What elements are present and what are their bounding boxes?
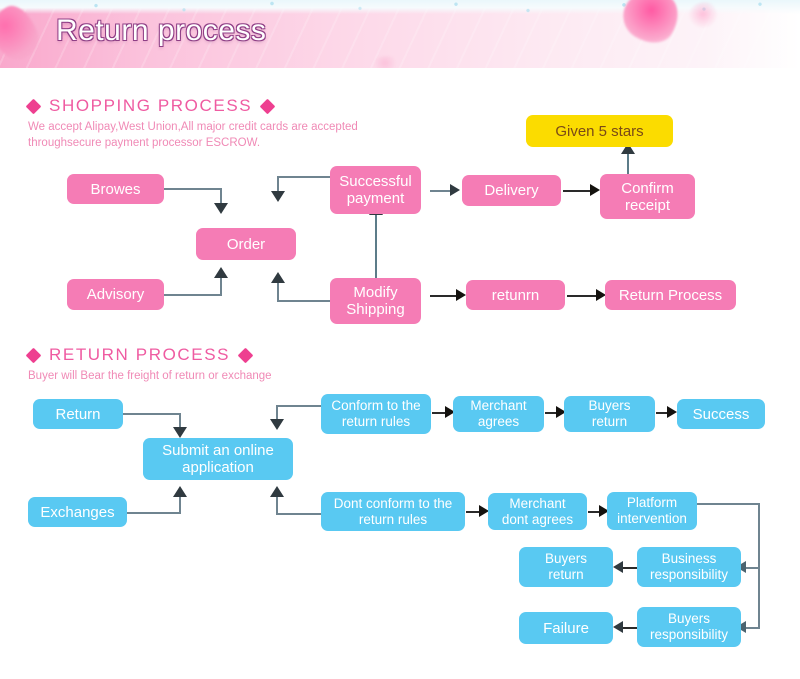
connector-conform-left-h: [276, 405, 324, 407]
connector-bus-to-buyers-h: [746, 627, 760, 629]
connector-exchanges-v: [179, 496, 181, 513]
arrow-browes-to-order: [214, 203, 228, 214]
return-process-heading: RETURN PROCESS: [28, 345, 251, 365]
arrow-buyersresp-to-failure: [613, 621, 623, 633]
connector-platform-bus-v: [758, 503, 760, 627]
arrow-buyersreturn-to-success: [667, 406, 677, 418]
connector-buyersresp-to-failure: [623, 627, 637, 629]
connector-platform-bus-h: [697, 503, 760, 505]
connector-retunrn-to-returnprocess: [567, 295, 599, 297]
node-advisory[interactable]: Advisory: [67, 279, 164, 310]
node-return[interactable]: Return: [33, 399, 123, 429]
diamond-icon-left: [26, 98, 42, 114]
node-conform-to-return-rules[interactable]: Conform to the return rules: [321, 394, 431, 434]
page-header-banner: Return process: [0, 0, 800, 68]
connector-confirm-to-stars: [627, 152, 629, 174]
node-merchant-agrees[interactable]: Merchant agrees: [453, 396, 544, 432]
connector-advisory-h: [164, 294, 222, 296]
node-buyers-return-top[interactable]: Buyers return: [564, 396, 655, 432]
node-modify-shipping[interactable]: Modify Shipping: [330, 278, 421, 324]
arrow-dontconform-up: [270, 486, 284, 497]
arrow-modify-up: [271, 272, 285, 283]
node-return-process[interactable]: Return Process: [605, 280, 736, 310]
connector-business-to-buyersreturn: [623, 567, 637, 569]
node-platform-intervention[interactable]: Platform intervention: [607, 492, 697, 530]
arrow-exchanges-up: [173, 486, 187, 497]
connector-bus-to-business-h: [746, 567, 760, 569]
petal-decoration-bottom: [372, 56, 398, 68]
node-browes[interactable]: Browes: [67, 174, 164, 204]
node-retunrn[interactable]: retunrn: [466, 280, 565, 310]
node-buyers-responsibility[interactable]: Buyers responsibility: [637, 607, 741, 647]
node-failure[interactable]: Failure: [519, 612, 613, 644]
diamond-icon-left-2: [26, 347, 42, 363]
arrow-conform-down: [270, 419, 284, 430]
arrow-return-to-submit: [173, 427, 187, 438]
node-delivery[interactable]: Delivery: [462, 175, 561, 206]
connector-modify-to-payment: [375, 214, 377, 278]
shopping-process-subtitle: We accept Alipay,West Union,All major cr…: [28, 119, 358, 151]
node-exchanges[interactable]: Exchanges: [28, 497, 127, 527]
node-submit-online-application[interactable]: Submit an online application: [143, 438, 293, 480]
connector-browes-to-order-h: [164, 188, 222, 190]
diamond-icon-right-2: [238, 347, 254, 363]
connector-modify-left-h: [277, 300, 332, 302]
petal-decoration-right-small: [688, 2, 718, 28]
arrow-modify-to-retunrn: [456, 289, 466, 301]
node-order[interactable]: Order: [196, 228, 296, 260]
connector-return-to-submit-h: [123, 413, 181, 415]
connector-advisory-v: [220, 277, 222, 295]
connector-exchanges-h: [123, 512, 181, 514]
connector-modify-left-v: [277, 282, 279, 301]
shopping-process-heading-label: SHOPPING PROCESS: [49, 96, 252, 116]
connector-dontconform-left-v: [276, 496, 278, 514]
node-business-responsibility[interactable]: Business responsibility: [637, 547, 741, 587]
connector-payment-to-delivery: [430, 190, 452, 192]
diamond-icon-right: [260, 98, 276, 114]
return-process-heading-label: RETURN PROCESS: [49, 345, 230, 365]
arrow-payment-down: [271, 191, 285, 202]
arrow-advisory-up: [214, 267, 228, 278]
connector-delivery-to-confirm: [563, 190, 593, 192]
node-confirm-receipt[interactable]: Confirm receipt: [600, 174, 695, 219]
shopping-process-heading: SHOPPING PROCESS: [28, 96, 273, 116]
node-merchant-dont-agrees[interactable]: Merchant dont agrees: [488, 493, 587, 530]
connector-payment-left-h: [277, 176, 332, 178]
page-title: Return process: [56, 14, 266, 48]
node-successful-payment[interactable]: Successful payment: [330, 166, 421, 214]
banner-speckle-texture: [0, 0, 800, 14]
node-given-5-stars[interactable]: Given 5 stars: [526, 115, 673, 147]
node-success[interactable]: Success: [677, 399, 765, 429]
arrow-payment-to-delivery: [450, 184, 460, 196]
node-buyers-return-bottom[interactable]: Buyers return: [519, 547, 613, 587]
return-process-subtitle: Buyer will Bear the freight of return or…: [28, 368, 272, 384]
arrow-delivery-to-confirm: [590, 184, 600, 196]
arrow-business-to-buyersreturn: [613, 561, 623, 573]
connector-dontconform-left-h: [276, 513, 324, 515]
diagram-canvas: Return process SHOPPING PROCESS We accep…: [0, 0, 800, 679]
node-dont-conform-to-return-rules[interactable]: Dont conform to the return rules: [321, 492, 465, 531]
